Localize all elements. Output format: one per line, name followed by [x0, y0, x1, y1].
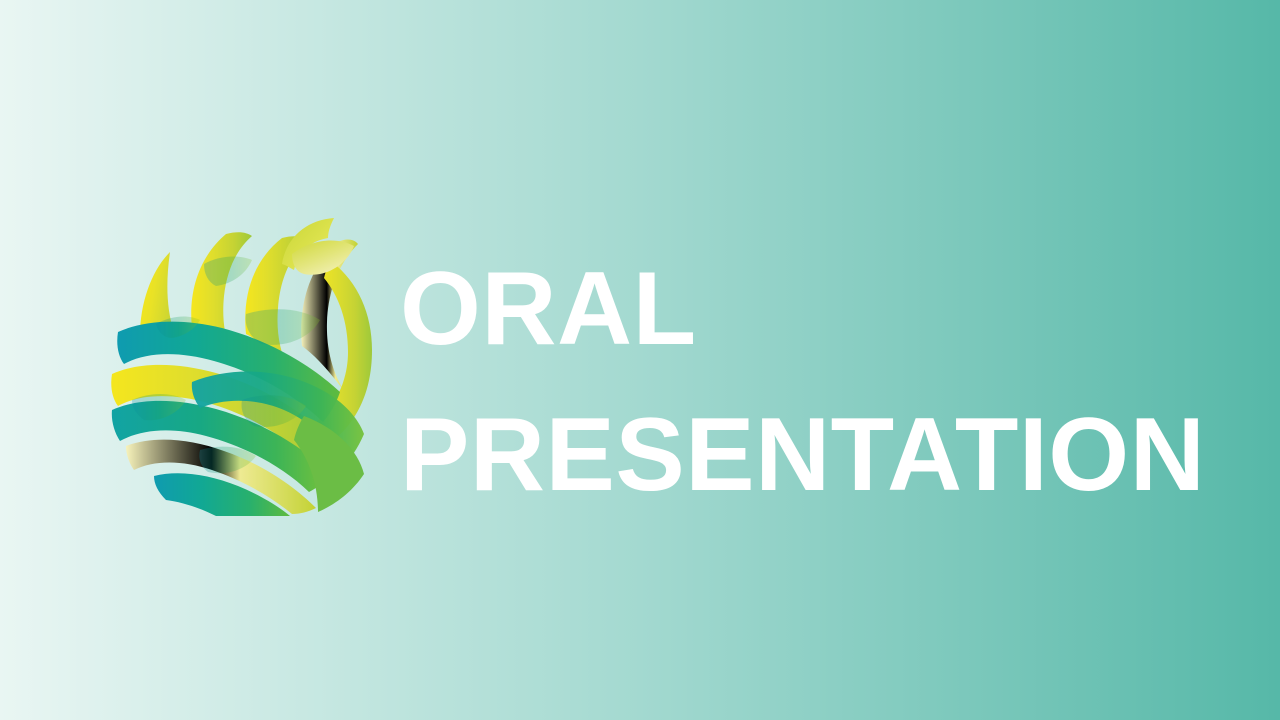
leaf-icon [282, 218, 354, 275]
title-line-secondary: PRESENTATION [400, 382, 1220, 528]
slide-title-block: ORAL PRESENTATION [400, 236, 1220, 528]
title-line-primary: ORAL [400, 236, 1220, 382]
presentation-slide: ORAL PRESENTATION [0, 0, 1280, 720]
spiral-globe-leaf-logo [96, 204, 382, 516]
